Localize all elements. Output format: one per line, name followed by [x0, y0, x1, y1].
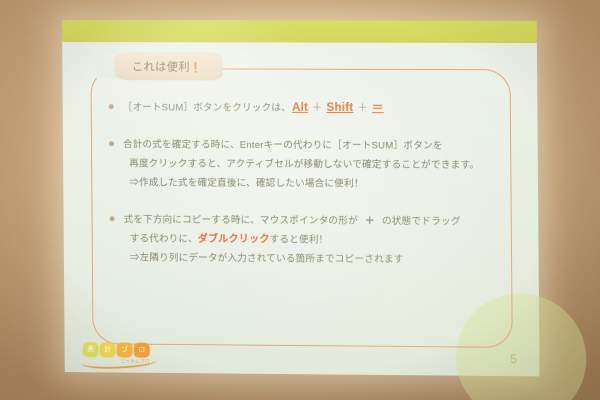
- bullet-line: ⇒左隣り列にデータが入力されている箇所までコピーされます: [124, 248, 498, 270]
- text-segment-normal: 式を下方向にコピーする時に、マウスポインタの形が: [124, 214, 358, 226]
- bullet-row: ［オートSUM］ボタンをクリックは、Alt＋Shift＋＝: [109, 98, 497, 118]
- bullet-lines: 合計の式を確定する時に、Enterキーの代わりに［オートSUM］ボタンを再度クリ…: [123, 135, 497, 194]
- text-segment-strong: ダブルクリック: [198, 234, 270, 246]
- bullet-line: 合計の式を確定する時に、Enterキーの代わりに［オートSUM］ボタンを: [123, 135, 497, 156]
- bullet-line: 式を下方向にコピーする時に、マウスポインタの形が＋の状態でドラッグ: [124, 210, 498, 231]
- bullet-autosum-reclick: 合計の式を確定する時に、Enterキーの代わりに［オートSUM］ボタンを再度クリ…: [109, 135, 497, 194]
- text-segment-normal: 再度クリックすると、アクティブセルが移動しないで確定することができます。: [129, 158, 479, 171]
- text-segment-normal: 合計の式を確定する時に、Enterキーの代わりに［オートSUM］ボタンを: [123, 139, 443, 151]
- footer-logo: 表 計 ブ ロ じっせんプロ: [79, 340, 177, 367]
- text-segment-glyph: ＋: [358, 216, 382, 227]
- title-tag: これは便利 ！: [114, 52, 223, 80]
- bullet-dot-icon: [109, 141, 114, 146]
- logo-subtitle: じっせんプロ: [121, 359, 150, 365]
- bullet-lines: 式を下方向にコピーする時に、マウスポインタの形が＋の状態でドラッグする代わりに、…: [124, 210, 498, 270]
- text-segment-normal: ⇒作成した式を確定直後に、確認したい場合に便利！: [129, 177, 363, 189]
- text-segment-plus: ＋: [309, 103, 325, 114]
- bullet-dot-icon: [109, 104, 114, 109]
- text-segment-key: Alt: [291, 102, 309, 114]
- bullet-line: ［オートSUM］ボタンをクリックは、Alt＋Shift＋＝: [123, 98, 497, 118]
- bullet-list: ［オートSUM］ボタンをクリックは、Alt＋Shift＋＝合計の式を確定する時に…: [109, 98, 498, 288]
- bullet-dot-icon: [110, 216, 115, 221]
- bullet-autosum-shortcut: ［オートSUM］ボタンをクリックは、Alt＋Shift＋＝: [109, 98, 497, 118]
- bullet-line: 再度クリックすると、アクティブセルが移動しないで確定することができます。: [123, 154, 497, 175]
- bullet-doubleclick-fill: 式を下方向にコピーする時に、マウスポインタの形が＋の状態でドラッグする代わりに、…: [110, 210, 498, 270]
- title-tag-exclamation: ！: [192, 57, 205, 76]
- slide-top-band: [62, 20, 537, 43]
- bullet-lines: ［オートSUM］ボタンをクリックは、Alt＋Shift＋＝: [123, 98, 497, 118]
- text-segment-normal: ⇒左隣り列にデータが入力されている箇所までコピーされます: [130, 252, 404, 265]
- text-segment-normal: すると便利！: [270, 234, 329, 245]
- page-number: 5: [510, 352, 517, 366]
- text-segment-key: ＝: [371, 102, 385, 114]
- slide-surface: 5 これは便利 ！ ［オートSUM］ボタンをクリックは、Alt＋Shift＋＝合…: [62, 20, 540, 376]
- text-segment-normal: ［オートSUM］ボタンをクリックは、: [123, 102, 291, 114]
- text-segment-normal: の状態でドラッグ: [382, 216, 461, 228]
- text-segment-normal: する代わりに、: [130, 233, 198, 244]
- projected-slide: 5 これは便利 ！ ［オートSUM］ボタンをクリックは、Alt＋Shift＋＝合…: [62, 20, 540, 376]
- text-segment-plus: ＋: [354, 103, 370, 114]
- projection-photo: 5 これは便利 ！ ［オートSUM］ボタンをクリックは、Alt＋Shift＋＝合…: [0, 0, 600, 400]
- bullet-line: ⇒作成した式を確定直後に、確認したい場合に便利！: [123, 173, 497, 194]
- title-tag-label: これは便利: [132, 58, 190, 74]
- text-segment-key: Shift: [325, 102, 354, 114]
- bullet-line: する代わりに、ダブルクリックすると便利！: [124, 229, 498, 250]
- bullet-row: 式を下方向にコピーする時に、マウスポインタの形が＋の状態でドラッグする代わりに、…: [110, 210, 498, 270]
- bullet-row: 合計の式を確定する時に、Enterキーの代わりに［オートSUM］ボタンを再度クリ…: [109, 135, 497, 194]
